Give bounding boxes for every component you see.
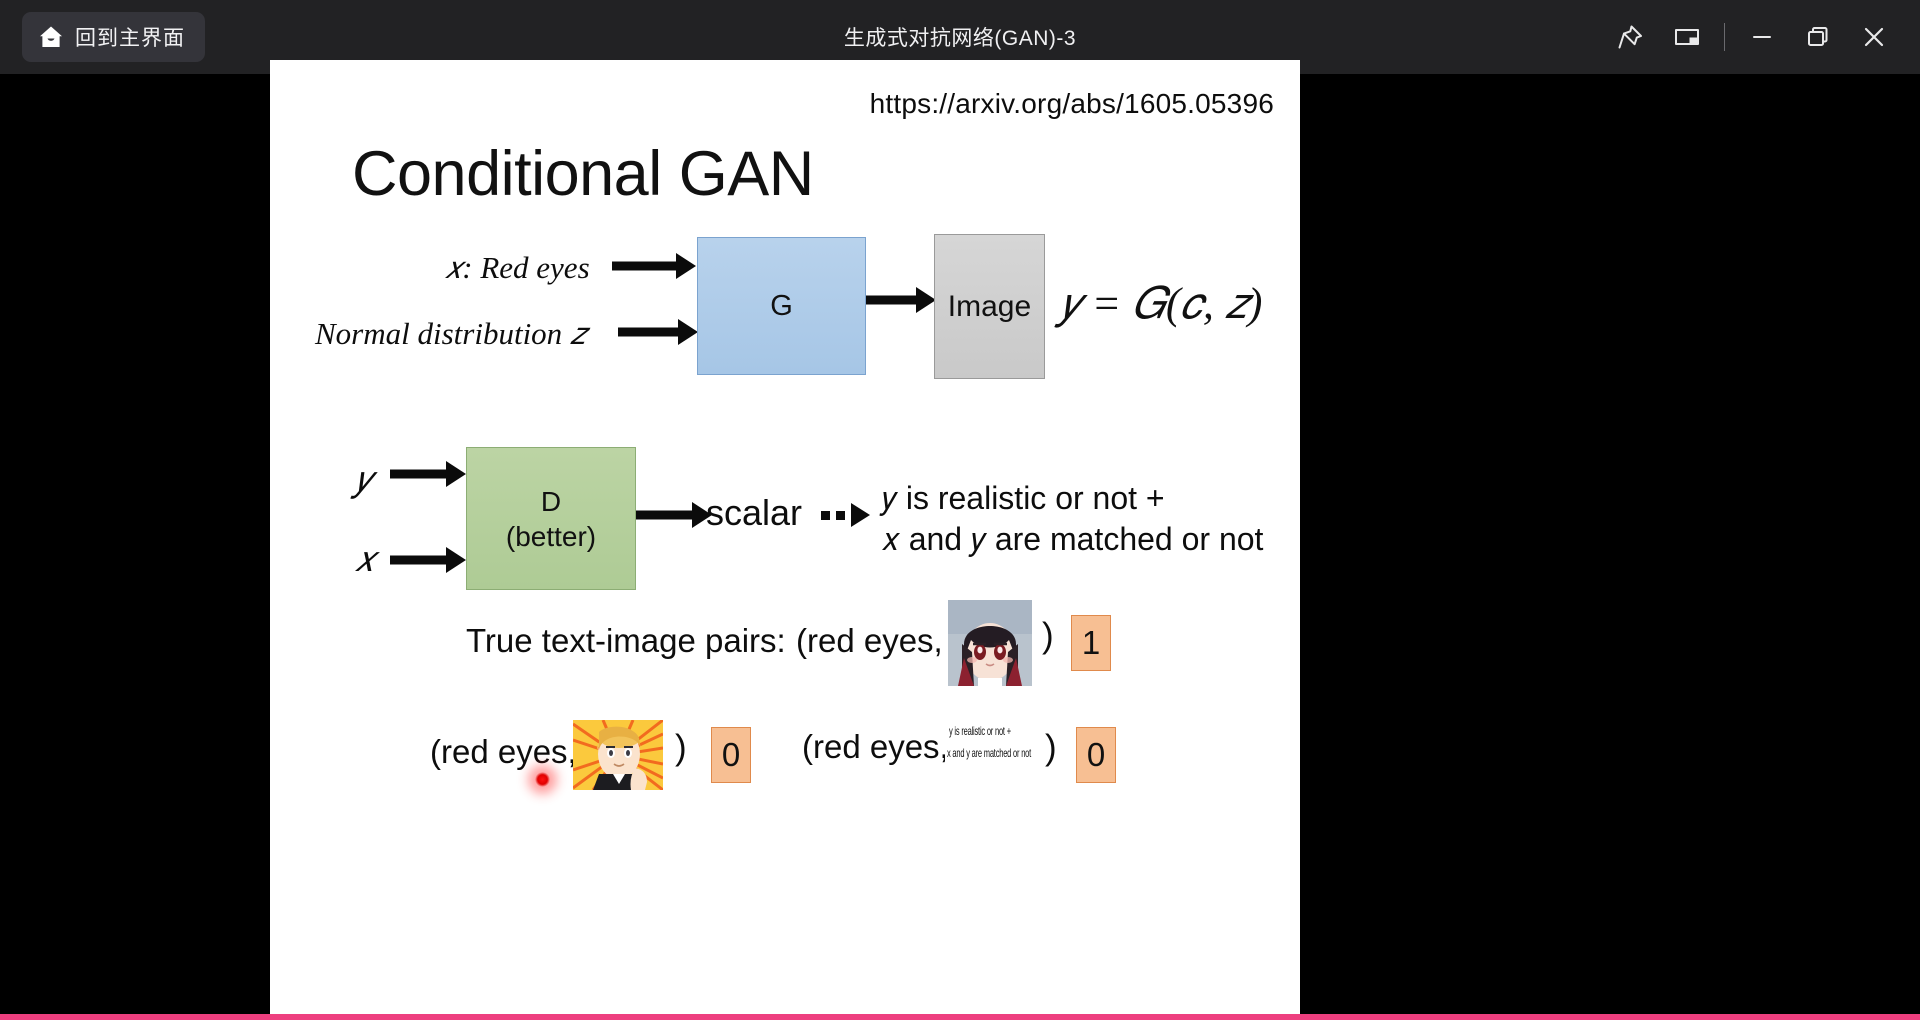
generator-box: G	[697, 237, 866, 375]
pair-3-score-badge: 0	[1076, 727, 1116, 783]
pair-3-thumbnail: y is realistic or not + x and y are matc…	[945, 720, 1045, 772]
pair-2-score-value: 0	[722, 736, 740, 774]
discriminator-box: D (better)	[466, 447, 636, 590]
pair-1-thumbnail	[948, 600, 1032, 686]
pair-3-score-value: 0	[1087, 736, 1105, 774]
pair-2-close-text: )	[675, 728, 687, 768]
pair-3-thumbnail-text-line1: y is realistic or not +	[949, 724, 1045, 738]
arrow-scalar-to-criteria	[821, 503, 870, 527]
generated-image-label: Image	[948, 290, 1031, 324]
criteria-line-1: 𝑦 is realistic or not +	[882, 480, 1165, 518]
discriminator-input-x: 𝑥	[355, 538, 375, 581]
paper-url[interactable]: https://arxiv.org/abs/1605.05396	[870, 88, 1274, 120]
generator-formula: 𝑦 = 𝐺(𝑐, 𝑧)	[1060, 278, 1262, 329]
pair-3-open-text: (red eyes,	[802, 728, 949, 766]
restore-icon[interactable]	[1790, 9, 1846, 65]
home-icon	[38, 24, 64, 50]
laser-pointer-dot	[535, 772, 550, 787]
scalar-label: scalar	[706, 492, 802, 534]
arrow-head	[851, 503, 870, 527]
pair-2-open-text: (red eyes,	[430, 733, 577, 771]
generator-box-label: G	[770, 290, 793, 323]
pair-3-close-text: )	[1045, 728, 1057, 768]
dash-segment	[821, 511, 830, 520]
picture-in-picture-icon[interactable]	[1659, 9, 1715, 65]
generator-noise-label: Normal distribution 𝑧	[315, 316, 586, 353]
discriminator-box-label-main: D	[541, 484, 561, 519]
slide-title: Conditional GAN	[352, 138, 814, 210]
slide-canvas: https://arxiv.org/abs/1605.05396 Conditi…	[270, 60, 1300, 1020]
window-controls	[1603, 0, 1902, 74]
pin-icon[interactable]	[1603, 9, 1659, 65]
minimize-icon[interactable]	[1734, 9, 1790, 65]
pair-2-score-badge: 0	[711, 727, 751, 783]
true-pairs-heading: True text-image pairs:	[466, 622, 786, 660]
controls-divider	[1724, 23, 1725, 51]
generated-image-box: Image	[934, 234, 1045, 379]
pair-1-close-text: )	[1042, 616, 1054, 656]
criteria-line-2: 𝑥 and 𝑦 are matched or not	[882, 521, 1263, 559]
playback-progress-bar[interactable]	[0, 1014, 1920, 1020]
pair-2-thumbnail	[573, 720, 663, 790]
app-window: 回到主界面 生成式对抗网络(GAN)-3	[0, 0, 1920, 1020]
pair-3-thumbnail-text-line2: x and y are matched or not	[947, 746, 1045, 760]
close-icon[interactable]	[1846, 9, 1902, 65]
dash-segment	[836, 511, 845, 520]
pair-1-score-value: 1	[1082, 624, 1100, 662]
discriminator-box-label-sub: (better)	[506, 519, 596, 554]
pair-1-score-badge: 1	[1071, 615, 1111, 671]
back-to-home-button[interactable]: 回到主界面	[22, 12, 205, 62]
discriminator-input-y: 𝑦	[355, 458, 372, 501]
pair-1-open-text: (red eyes,	[796, 622, 943, 660]
generator-condition-label: 𝑥: Red eyes	[445, 250, 590, 287]
back-to-home-label: 回到主界面	[75, 22, 185, 52]
